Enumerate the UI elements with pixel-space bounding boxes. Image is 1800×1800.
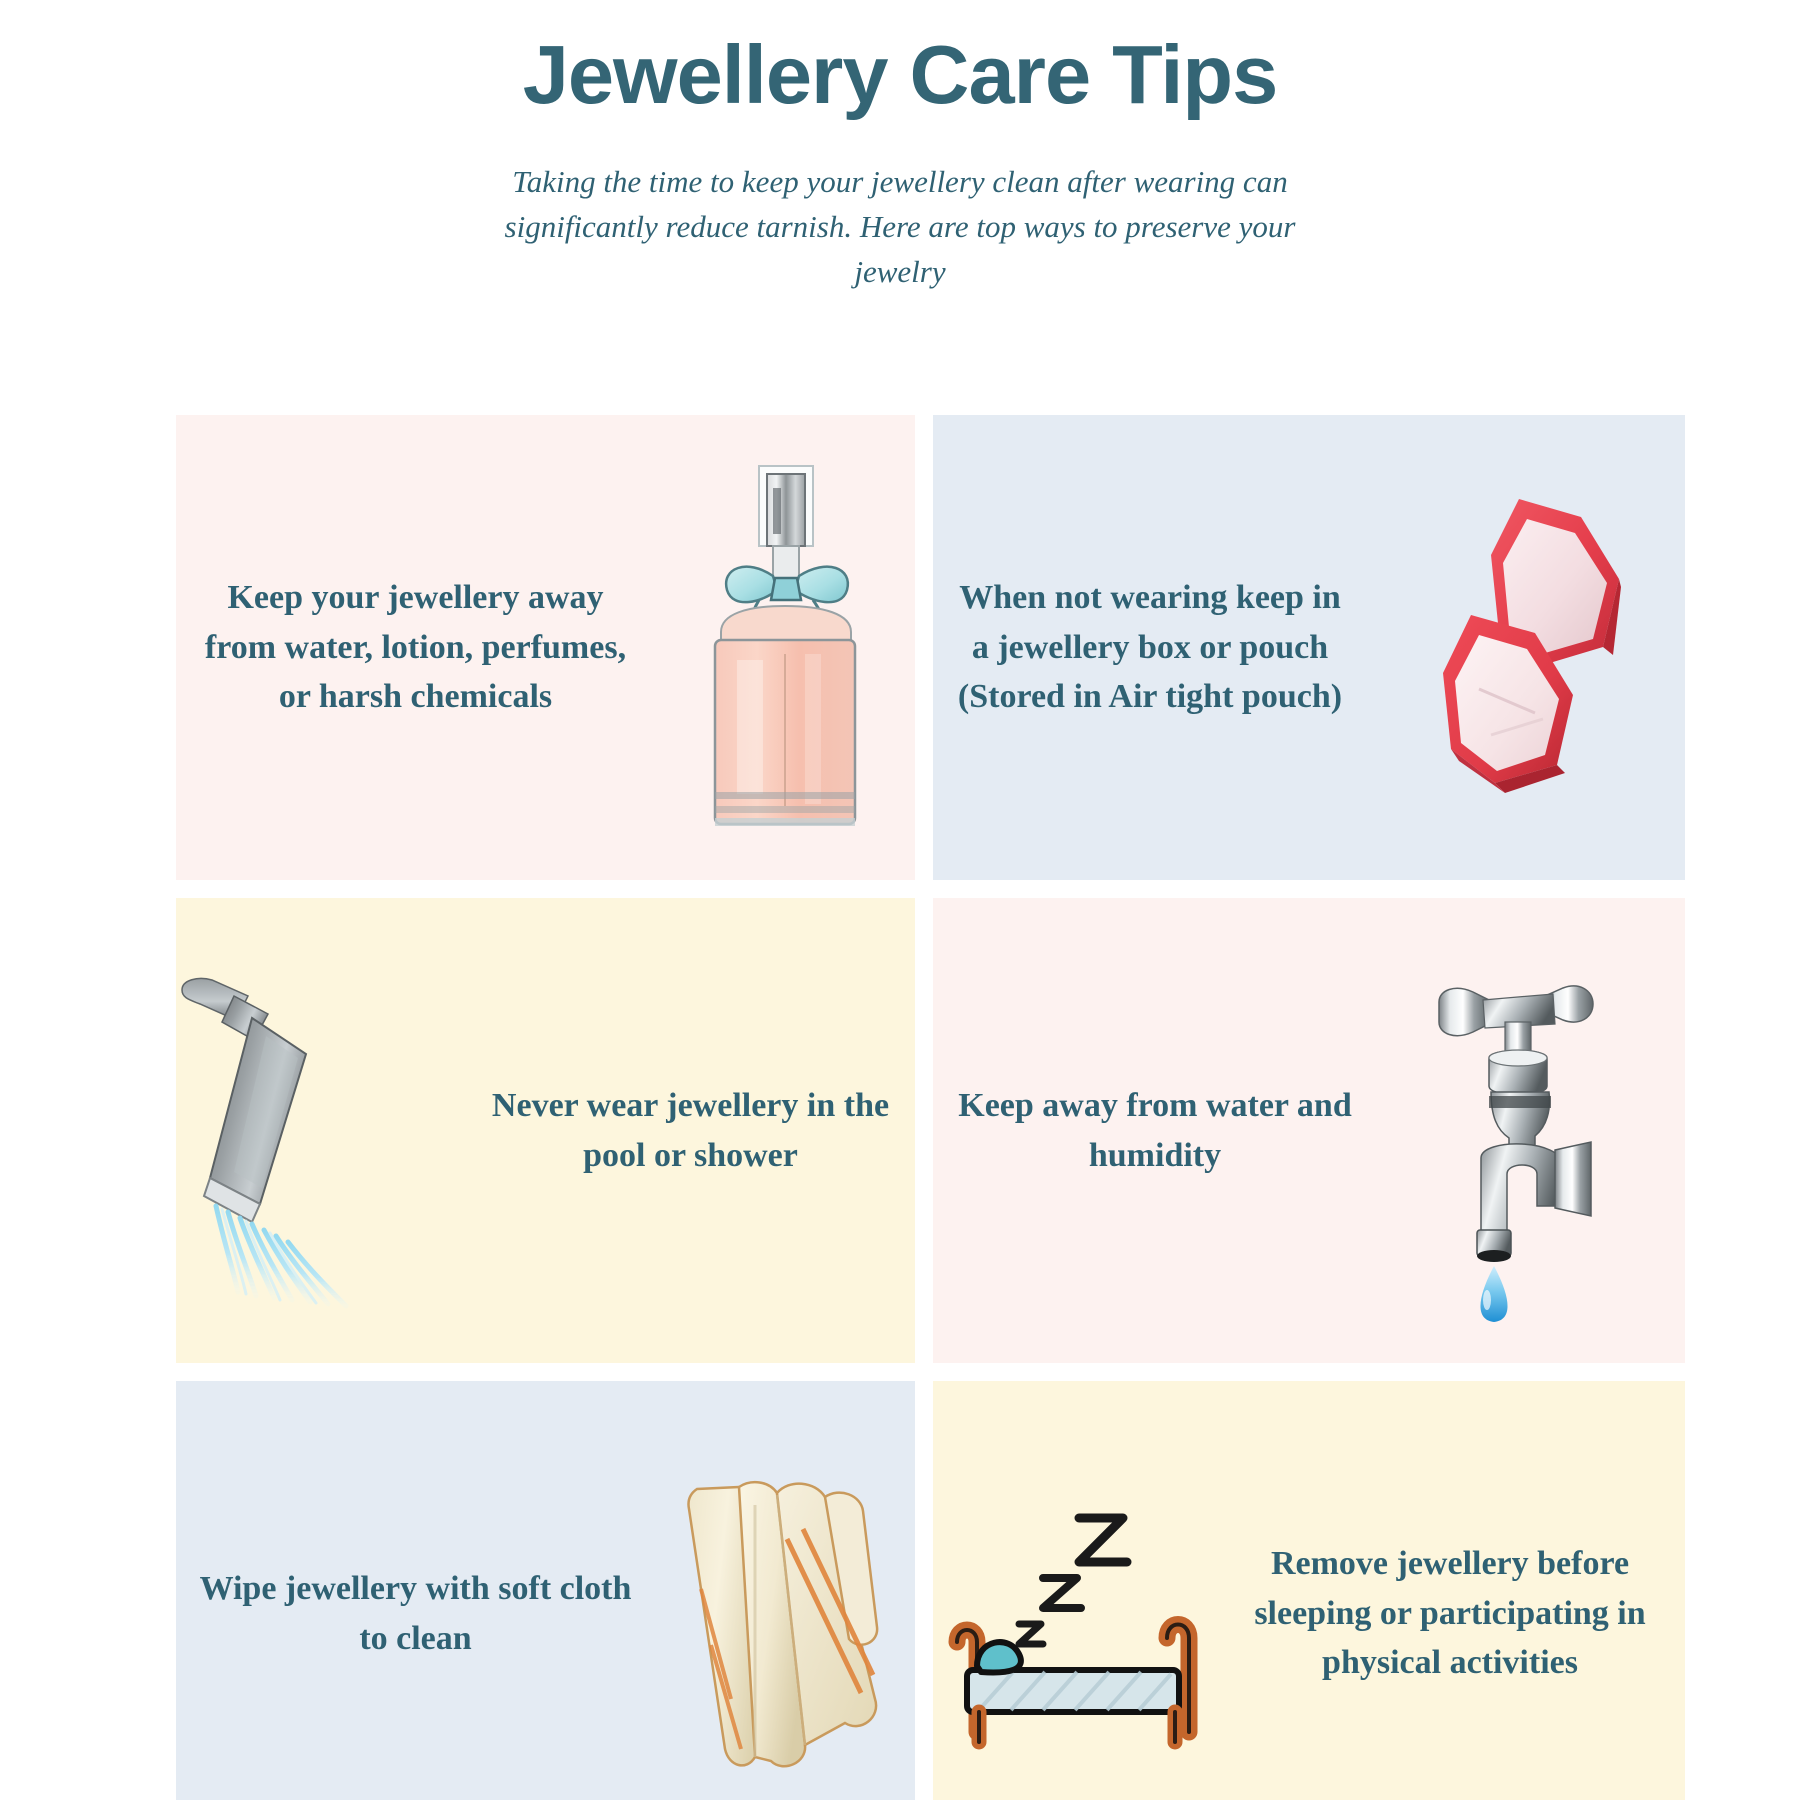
jewellery-box-icon (1367, 483, 1667, 813)
tip-illustration (176, 966, 466, 1296)
shower-head-icon (176, 966, 466, 1296)
faucet-icon (1377, 966, 1667, 1296)
bed-sleeping-icon (933, 1474, 1233, 1754)
tip-card-chemicals: Keep your jewellery away from water, lot… (163, 415, 915, 880)
tip-illustration (933, 1474, 1233, 1754)
tip-card-humidity: Keep away from water and humidity (915, 898, 1667, 1363)
tip-text: Wipe jewellery with soft cloth to clean (176, 1564, 655, 1664)
tip-illustration (655, 448, 915, 848)
tip-text: When not wearing keep in a jewellery box… (933, 573, 1367, 723)
tip-text: Remove jewellery before sleeping or part… (1233, 1539, 1667, 1689)
tip-illustration (655, 1449, 915, 1779)
soft-cloth-icon (655, 1449, 915, 1779)
page-title: Jewellery Care Tips (0, 30, 1800, 120)
perfume-bottle-icon (655, 448, 915, 848)
tip-card-sleeping-activities: Remove jewellery before sleeping or part… (915, 1381, 1667, 1800)
tip-card-storage: When not wearing keep in a jewellery box… (915, 415, 1667, 880)
tips-grid: Keep your jewellery away from water, lot… (163, 415, 1668, 1800)
tip-text: Keep away from water and humidity (933, 1081, 1377, 1181)
tip-illustration (1367, 483, 1667, 813)
tip-card-pool-shower: Never wear jewellery in the pool or show… (163, 898, 915, 1363)
infographic-page: Jewellery Care Tips Taking the time to k… (0, 0, 1800, 1800)
tip-text: Never wear jewellery in the pool or show… (466, 1081, 915, 1181)
tip-card-wipe-clean: Wipe jewellery with soft cloth to clean (163, 1381, 915, 1800)
page-subtitle: Taking the time to keep your jewellery c… (500, 160, 1300, 295)
tip-illustration (1377, 966, 1667, 1296)
tip-text: Keep your jewellery away from water, lot… (176, 573, 655, 723)
header: Jewellery Care Tips Taking the time to k… (0, 0, 1800, 294)
